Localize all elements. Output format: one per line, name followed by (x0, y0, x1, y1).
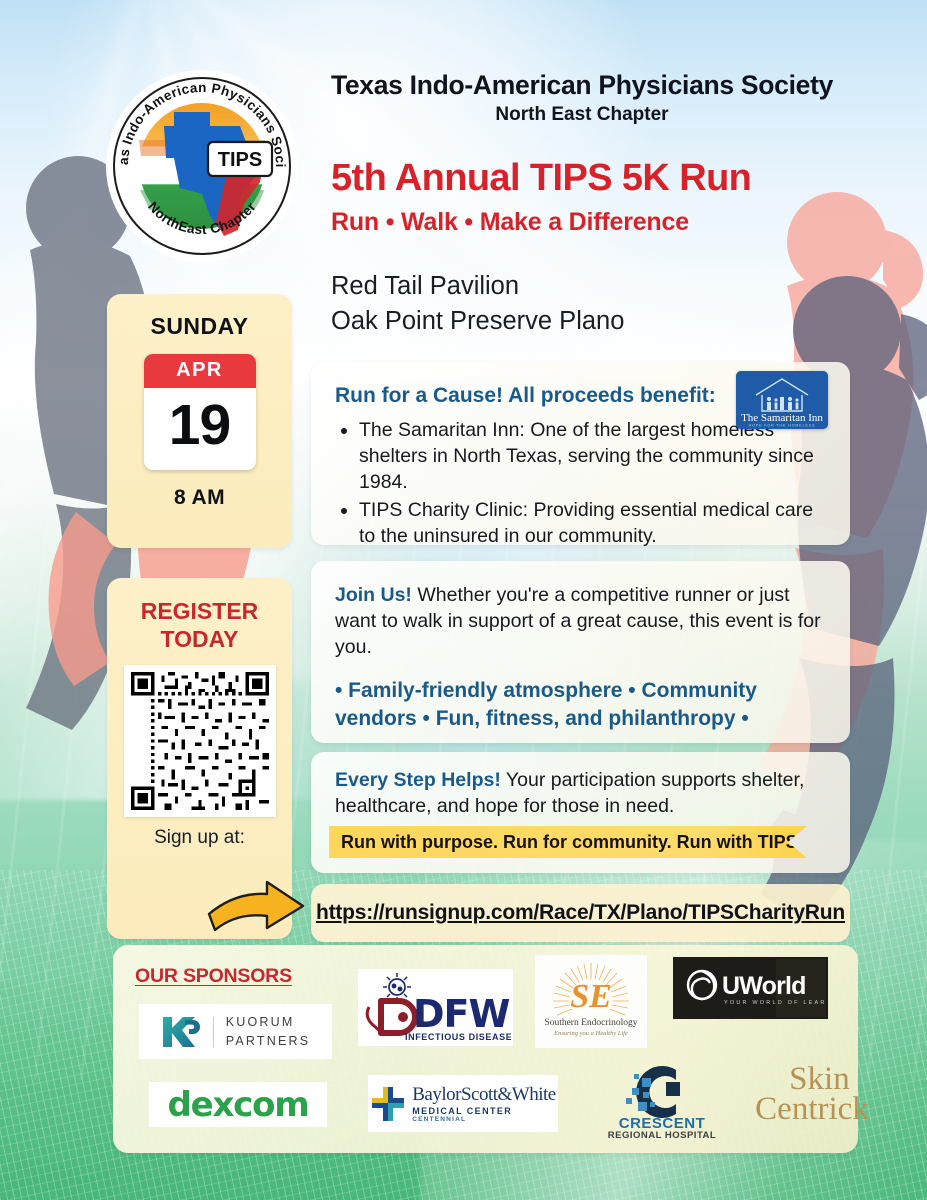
sponsors-heading: OUR SPONSORS (135, 965, 292, 988)
date-weekday: SUNDAY (107, 313, 292, 340)
steps-lead: Every Step Helps! (335, 769, 501, 791)
svg-text:The Samaritan Inn: The Samaritan Inn (741, 412, 823, 424)
venue-line-1: Red Tail Pavilion (331, 272, 519, 301)
calendar-day: 19 (144, 388, 256, 470)
tips-logo: TIPS Texas Indo-American Physicians Soci… (104, 68, 300, 264)
dexcom-wordmark: dexcom (167, 1085, 308, 1125)
calendar-month: APR (144, 354, 256, 388)
kuorum-divider (213, 1017, 214, 1047)
chapter-subtitle: North East Chapter (272, 104, 892, 126)
sponsor-logo-kuorum-partners: KUORUM PARTNERS (139, 1004, 332, 1059)
baylor-sub: MEDICAL CENTER (412, 1106, 555, 1116)
registration-link-panel[interactable]: https://runsignup.com/Race/TX/Plano/TIPS… (311, 884, 850, 942)
svg-text:Ensuring you a Healthy Life: Ensuring you a Healthy Life (553, 1030, 628, 1037)
svg-text:REGIONAL HOSPITAL: REGIONAL HOSPITAL (608, 1130, 716, 1140)
kuorum-wordmark: KUORUM PARTNERS (226, 1013, 311, 1051)
join-panel: Join Us! Whether you're a competitive ru… (311, 561, 850, 743)
register-card: REGISTER TODAY (107, 578, 292, 939)
cause-panel: Run for a Cause! All proceeds benefit: (311, 362, 850, 545)
sponsor-logo-skin-centrick: Skin Centrick (738, 1053, 886, 1135)
list-item: TIPS Charity Clinic: Providing essential… (359, 498, 828, 550)
join-paragraph: Join Us! Whether you're a competitive ru… (335, 583, 828, 661)
venue-line-2: Oak Point Preserve Plano (331, 307, 624, 336)
slogan-text: Run with purpose. Run for community. Run… (341, 832, 803, 853)
slogan-banner: Run with purpose. Run for community. Run… (329, 826, 807, 858)
event-title: 5th Annual TIPS 5K Run (331, 157, 751, 200)
register-heading: REGISTER TODAY (107, 578, 292, 653)
sponsor-logo-uworld: UWorld YOUR WORLD OF LEARNING (673, 957, 828, 1019)
svg-text:SE: SE (570, 978, 612, 1015)
steps-paragraph: Every Step Helps! Your participation sup… (335, 768, 828, 820)
sponsor-logo-crescent-regional-hospital: CRESCENT REGIONAL HOSPITAL (597, 1060, 727, 1140)
qr-code[interactable] (124, 665, 276, 817)
steps-panel: Every Step Helps! Your participation sup… (311, 752, 850, 873)
registration-url[interactable]: https://runsignup.com/Race/TX/Plano/TIPS… (311, 884, 850, 942)
samaritan-inn-logo: The Samaritan Inn HOPE FOR THE HOMELESS (736, 371, 828, 429)
list-item: The Samaritan Inn: One of the largest ho… (359, 418, 828, 496)
kuorum-line2: PARTNERS (226, 1032, 311, 1051)
arrow-right-icon (203, 874, 313, 939)
sponsor-logo-baylor-scott-white: BaylorScott&White MEDICAL CENTER CENTENN… (368, 1075, 558, 1132)
svg-text:YOUR WORLD OF LEARNING: YOUR WORLD OF LEARNING (724, 1000, 826, 1006)
sponsor-logo-dfw-infectious-diseases: DFW INFECTIOUS DISEASES (358, 969, 513, 1046)
event-poster: TIPS Texas Indo-American Physicians Soci… (0, 0, 927, 1200)
sponsor-logo-southern-endocrinology: SE Southern Endocrinology Ensuring you a… (535, 955, 647, 1048)
sponsor-logo-dexcom: dexcom (149, 1082, 327, 1127)
join-lead: Join Us! (335, 584, 412, 606)
event-tagline: Run • Walk • Make a Difference (331, 208, 689, 237)
date-card: SUNDAY APR 19 8 AM (107, 294, 292, 548)
svg-text:UWorld: UWorld (722, 972, 806, 1000)
baylor-wordmark: BaylorScott&White (412, 1084, 555, 1106)
skin-line1: Skin (755, 1064, 869, 1094)
svg-text:TIPS: TIPS (218, 149, 262, 171)
register-heading-line2: TODAY (161, 626, 239, 652)
signup-label: Sign up at: (107, 827, 292, 849)
svg-text:Southern Endocrinology: Southern Endocrinology (544, 1018, 637, 1028)
baylor-sub2: CENTENNIAL (412, 1116, 555, 1123)
svg-text:HOPE FOR THE HOMELESS: HOPE FOR THE HOMELESS (749, 423, 816, 427)
calendar-icon: APR 19 (144, 354, 256, 470)
page-title: Texas Indo-American Physicians Society (272, 70, 892, 101)
svg-text:INFECTIOUS DISEASES: INFECTIOUS DISEASES (405, 1032, 511, 1042)
features-list: • Family-friendly atmosphere • Community… (335, 677, 828, 734)
cause-list: The Samaritan Inn: One of the largest ho… (359, 418, 828, 550)
svg-text:DFW: DFW (413, 992, 510, 1036)
event-time: 8 AM (107, 486, 292, 510)
kuorum-line1: KUORUM (226, 1013, 311, 1032)
register-heading-line1: REGISTER (141, 598, 259, 624)
sponsors-panel: OUR SPONSORS KUORUM PARTNERS dexcom (113, 945, 858, 1153)
skin-line2: Centrick (755, 1094, 869, 1124)
